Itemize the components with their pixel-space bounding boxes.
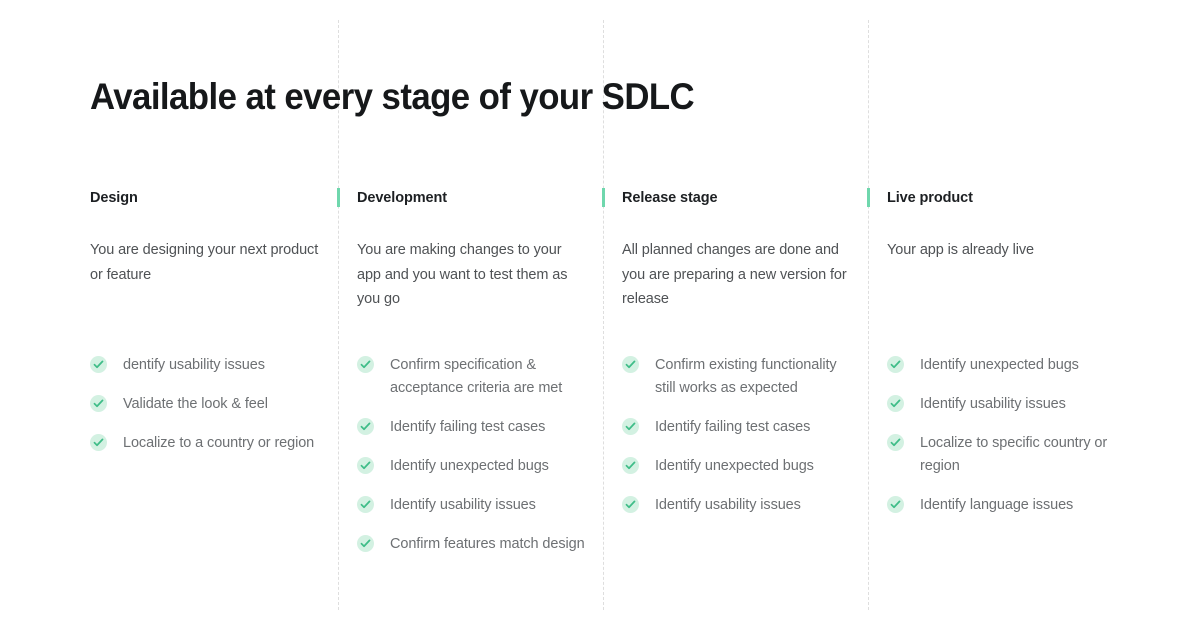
list-item: Identify usability issues <box>622 494 860 517</box>
list-item-label: Identify unexpected bugs <box>655 458 814 474</box>
check-circle-icon <box>90 395 107 412</box>
list-item-label: Localize to specific country or region <box>920 435 1107 474</box>
check-circle-icon <box>357 356 374 373</box>
column-description: All planned changes are done and you are… <box>622 238 854 312</box>
check-circle-icon <box>357 418 374 435</box>
column-heading: Design <box>90 188 328 208</box>
check-circle-icon <box>357 535 374 552</box>
list-item: Localize to a country or region <box>90 432 328 455</box>
check-circle-icon <box>622 418 639 435</box>
list-item: Identify unexpected bugs <box>357 455 595 478</box>
list-item-label: Identify usability issues <box>920 396 1066 412</box>
list-item: dentify usability issues <box>90 354 328 377</box>
list-item-label: Validate the look & feel <box>123 396 268 412</box>
check-circle-icon <box>90 356 107 373</box>
column-description: You are designing your next product or f… <box>90 238 322 287</box>
list-item-label: Identify usability issues <box>390 497 536 513</box>
check-circle-icon <box>622 496 639 513</box>
column-accent-bar <box>602 188 605 207</box>
list-item: Confirm features match design <box>357 533 595 556</box>
check-circle-icon <box>622 356 639 373</box>
capability-list: Confirm specification & acceptance crite… <box>357 354 595 556</box>
check-circle-icon <box>622 457 639 474</box>
list-item: Identify failing test cases <box>357 416 595 439</box>
list-item-label: Confirm existing functionality still wor… <box>655 357 837 396</box>
page-title: Available at every stage of your SDLC <box>90 74 694 120</box>
capability-list: Confirm existing functionality still wor… <box>622 354 860 517</box>
list-item: Validate the look & feel <box>90 393 328 416</box>
column-heading: Development <box>357 188 595 208</box>
list-item-label: Confirm specification & acceptance crite… <box>390 357 562 396</box>
check-circle-icon <box>357 457 374 474</box>
stage-column: DevelopmentYou are making changes to you… <box>357 188 595 312</box>
stage-overview-page: Available at every stage of your SDLC De… <box>0 0 1201 630</box>
list-item: Identify usability issues <box>357 494 595 517</box>
stage-column: DesignYou are designing your next produc… <box>90 188 328 287</box>
capability-list: Identify unexpected bugsIdentify usabili… <box>887 354 1125 517</box>
column-heading: Release stage <box>622 188 860 208</box>
list-item: Confirm specification & acceptance crite… <box>357 354 595 400</box>
list-item: Identify failing test cases <box>622 416 860 439</box>
list-item: Identify language issues <box>887 494 1125 517</box>
capability-list: dentify usability issuesValidate the loo… <box>90 354 328 455</box>
list-item-label: Identify unexpected bugs <box>920 357 1079 373</box>
stage-column: Release stageAll planned changes are don… <box>622 188 860 312</box>
column-divider-3 <box>868 20 869 610</box>
check-circle-icon <box>887 434 904 451</box>
check-circle-icon <box>90 434 107 451</box>
list-item-label: Identify unexpected bugs <box>390 458 549 474</box>
column-heading: Live product <box>887 188 1125 208</box>
list-item-label: dentify usability issues <box>123 357 265 373</box>
list-item-label: Identify usability issues <box>655 497 801 513</box>
list-item: Identify unexpected bugs <box>622 455 860 478</box>
list-item-label: Identify failing test cases <box>390 419 545 435</box>
column-description: You are making changes to your app and y… <box>357 238 589 312</box>
list-item-label: Identify failing test cases <box>655 419 810 435</box>
list-item-label: Localize to a country or region <box>123 435 314 451</box>
column-accent-bar <box>337 188 340 207</box>
list-item: Identify usability issues <box>887 393 1125 416</box>
list-item: Confirm existing functionality still wor… <box>622 354 860 400</box>
list-item-label: Identify language issues <box>920 497 1073 513</box>
stage-column: Live productYour app is already liveIden… <box>887 188 1125 263</box>
check-circle-icon <box>887 496 904 513</box>
column-description: Your app is already live <box>887 238 1119 263</box>
check-circle-icon <box>357 496 374 513</box>
check-circle-icon <box>887 356 904 373</box>
column-accent-bar <box>867 188 870 207</box>
list-item: Localize to specific country or region <box>887 432 1125 478</box>
list-item: Identify unexpected bugs <box>887 354 1125 377</box>
list-item-label: Confirm features match design <box>390 536 585 552</box>
check-circle-icon <box>887 395 904 412</box>
